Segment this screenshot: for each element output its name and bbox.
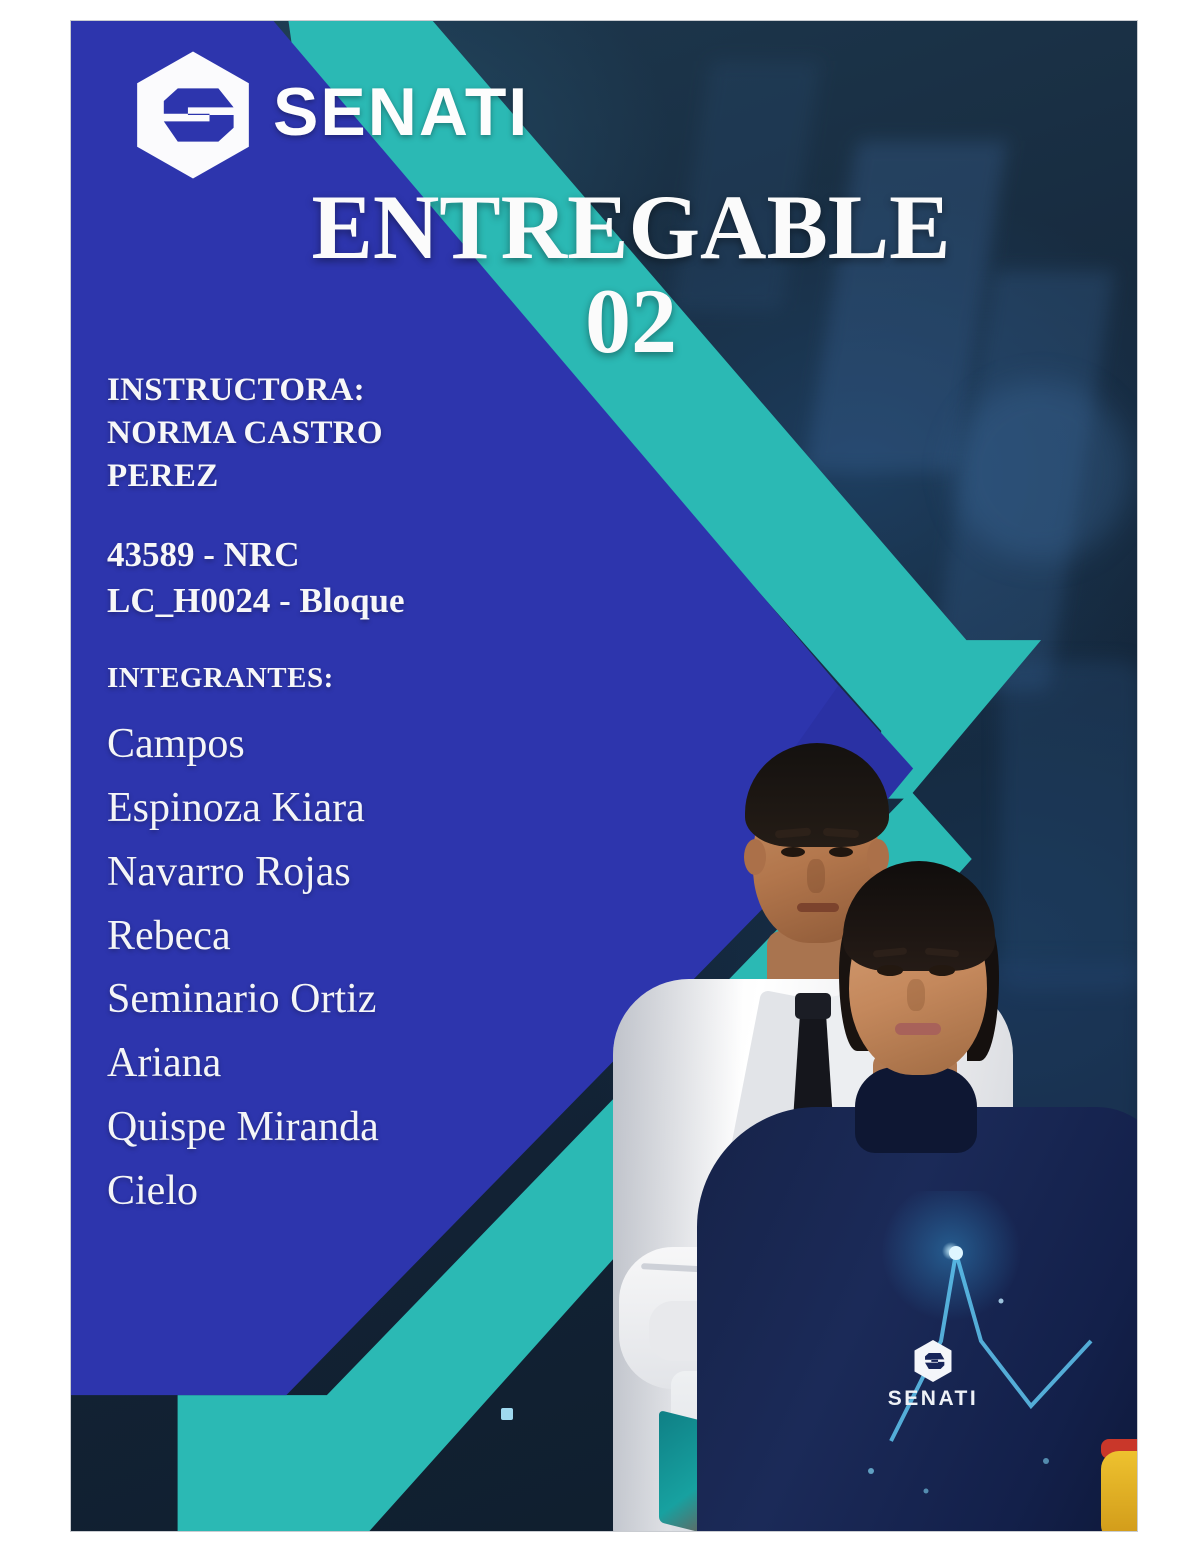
male-student-eye-right xyxy=(829,847,853,857)
background-shape xyxy=(951,381,1131,561)
instructor-block: INSTRUCTORA: NORMA CASTRO PEREZ xyxy=(107,369,577,498)
course-block: 43589 - NRC LC_H0024 - Bloque xyxy=(107,532,577,624)
members-label: INTEGRANTES: xyxy=(107,662,577,695)
members-list: Campos Espinoza Kiara Navarro Rojas Rebe… xyxy=(107,713,577,1224)
female-student-uniform xyxy=(697,1107,1138,1532)
male-student-tie-knot xyxy=(795,993,831,1019)
page-title-line1: ENTREGABLE xyxy=(311,176,950,278)
course-nrc: 43589 - NRC xyxy=(107,532,577,578)
instructor-name-line2: PEREZ xyxy=(107,455,577,498)
senati-wordmark: SENATI xyxy=(273,78,529,152)
page-title-line2: 02 xyxy=(251,275,1011,369)
screenshot-viewport: SENATI SENATI ENTREGABLE 02 INSTRUCTORA:… xyxy=(0,0,1200,1553)
male-student-ear-left xyxy=(744,839,766,875)
female-student-collar xyxy=(855,1067,977,1153)
list-item: Espinoza Kiara xyxy=(107,777,577,841)
list-item: Rebeca xyxy=(107,905,577,969)
male-student-nose xyxy=(807,859,825,893)
uniform-senati-badge: SENATI xyxy=(877,1339,989,1411)
yellow-glove-right xyxy=(1101,1451,1138,1532)
brand-lockup: SENATI xyxy=(129,49,529,181)
male-student-eye-left xyxy=(781,847,805,857)
senati-hexagon-s-logo-icon xyxy=(129,49,257,181)
info-block: INSTRUCTORA: NORMA CASTRO PEREZ 43589 - … xyxy=(107,369,577,1224)
list-item: Quispe Miranda xyxy=(107,1096,577,1160)
instructor-label: INSTRUCTORA: xyxy=(107,369,577,412)
list-item: Ariana xyxy=(107,1032,577,1096)
senati-hexagon-s-logo-icon xyxy=(912,1339,954,1383)
male-student-hair xyxy=(745,743,889,847)
list-item: Seminario Ortiz xyxy=(107,968,577,1032)
page-title: ENTREGABLE 02 xyxy=(251,181,1011,369)
students-photo: SENATI xyxy=(501,711,1138,1532)
female-student-mouth xyxy=(895,1023,941,1035)
female-student-eye-left xyxy=(877,965,903,976)
uniform-senati-wordmark: SENATI xyxy=(877,1387,989,1411)
male-student-mouth xyxy=(797,903,839,912)
poster-page: SENATI SENATI ENTREGABLE 02 INSTRUCTORA:… xyxy=(70,20,1138,1532)
list-item: Campos xyxy=(107,713,577,777)
list-item: Navarro Rojas xyxy=(107,841,577,905)
course-block-code: LC_H0024 - Bloque xyxy=(107,578,577,624)
female-student-nose xyxy=(907,979,925,1011)
female-student-eye-right xyxy=(929,965,955,976)
instructor-name-line1: NORMA CASTRO xyxy=(107,412,577,455)
list-item: Cielo xyxy=(107,1160,577,1224)
